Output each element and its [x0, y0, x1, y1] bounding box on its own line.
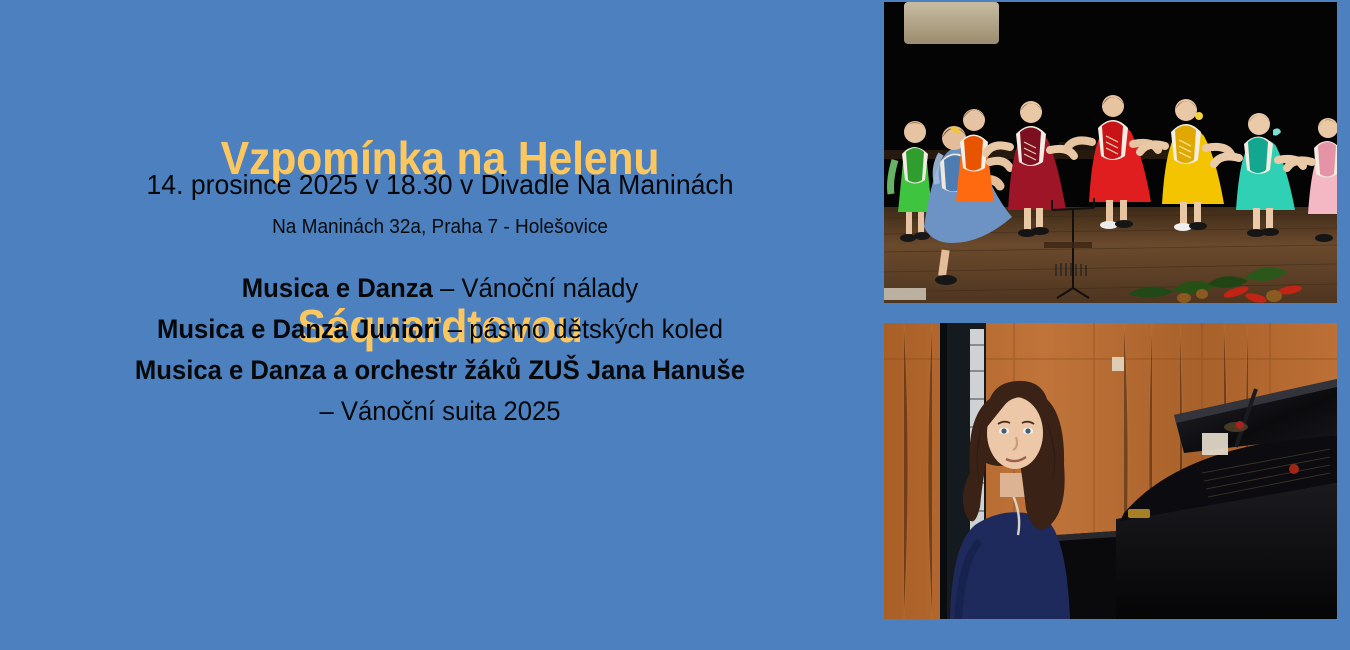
pianist-illustration: [884, 323, 1337, 619]
poster-canvas: Vzpomínka na Helenu Séquardtovou 14. pro…: [0, 0, 1350, 650]
program-description: pásmo dětských koled: [469, 314, 723, 344]
program-list: Musica e Danza – Vánoční nálady Musica e…: [22, 268, 858, 432]
program-item: Musica e Danza a orchestr žáků ZUŠ Jana …: [22, 350, 858, 391]
program-item: Musica e Danza – Vánoční nálady: [22, 268, 858, 309]
program-separator: –: [433, 273, 462, 303]
text-column: Vzpomínka na Helenu Séquardtovou 14. pro…: [0, 0, 880, 650]
event-address: Na Maninách 32a, Praha 7 - Holešovice: [22, 214, 858, 240]
program-separator: –: [441, 314, 470, 344]
program-item: – Vánoční suita 2025: [22, 391, 858, 432]
program-description: Vánoční nálady: [461, 273, 638, 303]
program-ensemble: Musica e Danza Juniori: [157, 314, 441, 344]
folk-dancers-illustration: [884, 2, 1337, 303]
photo-pianist: [884, 323, 1337, 619]
program-ensemble: Musica e Danza a orchestr žáků ZUŠ Jana …: [135, 355, 745, 385]
photo-folk-dancers: [884, 2, 1337, 303]
event-datetime-venue: 14. prosince 2025 v 18.30 v Divadle Na M…: [22, 168, 858, 202]
program-item: Musica e Danza Juniori – pásmo dětských …: [22, 309, 858, 350]
program-description: – Vánoční suita 2025: [319, 396, 560, 426]
program-ensemble: Musica e Danza: [242, 273, 433, 303]
